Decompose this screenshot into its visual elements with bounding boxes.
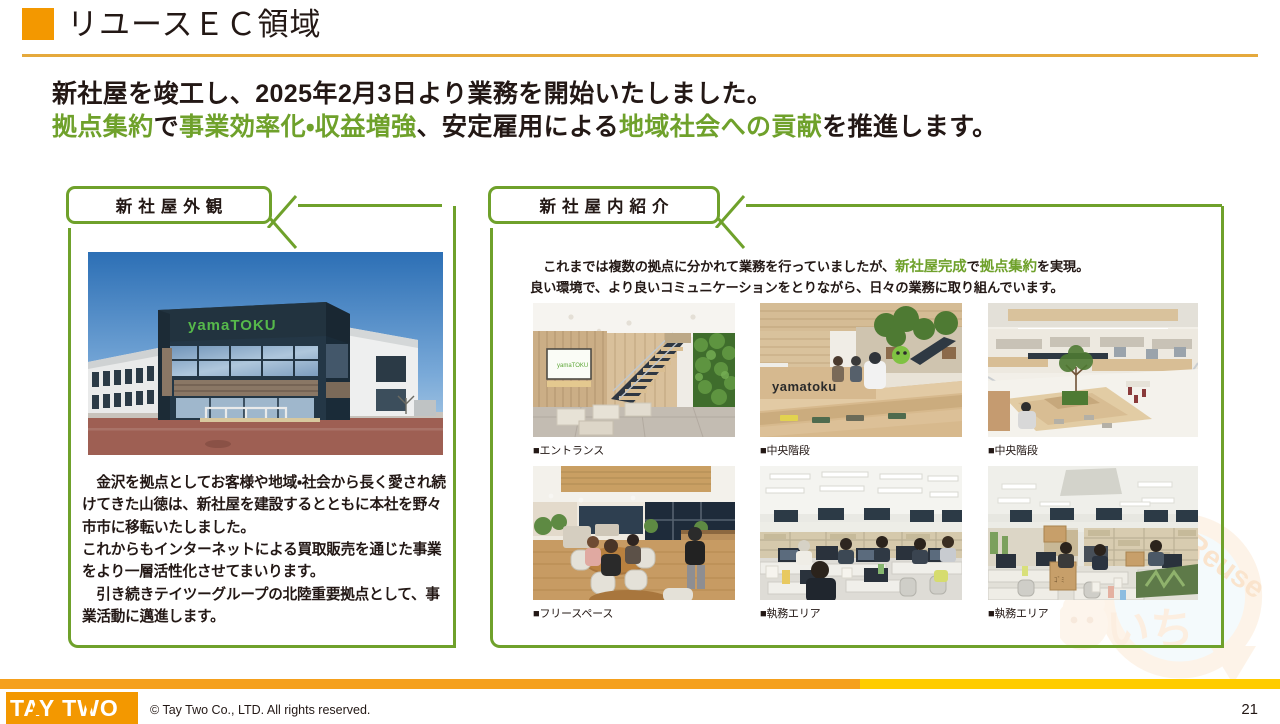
- photo-building-exterior: yamaTOKU: [88, 252, 443, 455]
- lead-text-3: を推進します。: [822, 113, 997, 141]
- intro-highlight-2: 拠点集約: [980, 259, 1037, 275]
- badge-spike-bottom-right: [714, 214, 748, 260]
- panel-exterior-badge: 新社屋外観: [66, 186, 272, 224]
- photo-entrance: yamaTOKU: [533, 303, 735, 437]
- tay-two-logo-mark: TAY TWO: [9, 695, 135, 721]
- svg-text:yamatoku: yamatoku: [772, 379, 837, 394]
- panel-exterior-head: 新社屋外観: [66, 186, 456, 226]
- photo-caption-central-stair-1: ■中央階段: [760, 442, 962, 458]
- intro-highlight-1: 新社屋完成: [895, 259, 966, 275]
- lead-paragraph: 新社屋を竣工し、2025年2月3日より業務を開始いたしました。 拠点集約で事業効…: [52, 78, 1252, 144]
- badge-spike-bottom-left: [266, 214, 300, 260]
- photo-free-space: [533, 466, 735, 600]
- svg-text:TAY TWO: TAY TWO: [10, 695, 119, 721]
- photo-cell-central-stair-2: ■中央階段: [988, 303, 1198, 458]
- panel-exterior: 新社屋外観: [66, 186, 456, 226]
- panel-interior-badge: 新社屋内紹介: [488, 186, 720, 224]
- interior-intro-line2: 良い環境で、より良いコミュニケーションをとりながら、日々の業務に取り組んでいます…: [530, 278, 1190, 298]
- photo-cell-central-stair-1: yamatoku ■中央階段: [760, 303, 962, 458]
- photo-central-stair-2: [988, 303, 1198, 437]
- svg-text:yamaTOKU: yamaTOKU: [557, 363, 588, 369]
- page-title-text: リユースＥＣ領域: [67, 9, 321, 40]
- photo-caption-entrance: ■エントランス: [533, 442, 735, 458]
- lead-text-2: 、安定雇用による: [417, 113, 619, 141]
- photo-caption-free-space: ■フリースペース: [533, 605, 735, 621]
- lead-highlight-1: 拠点集約: [52, 113, 154, 141]
- photo-central-stair-1: yamatoku: [760, 303, 962, 437]
- left-body-p2: これからもインターネットによる買取販売を通じた事業をより一層活性化させてまいりま…: [82, 539, 452, 584]
- lead-text-1: で: [154, 113, 179, 141]
- svg-text:ｺﾞﾐ: ｺﾞﾐ: [1054, 576, 1065, 584]
- photo-cell-entrance: yamaTOKU: [533, 303, 735, 458]
- title-divider: [22, 54, 1258, 57]
- panel-interior-head: 新社屋内紹介: [488, 186, 1224, 226]
- interior-intro-line1: これまでは複数の拠点に分かれて業務を行っていましたが、新社屋完成で拠点集約を実現…: [530, 256, 1190, 278]
- lead-highlight-2: 事業効率化・収益増強: [179, 113, 417, 141]
- photo-caption-office-1: ■執務エリア: [760, 605, 962, 621]
- panel-exterior-rule: [298, 204, 442, 207]
- intro-text-b: で: [967, 259, 980, 274]
- left-body-p3: 引き続きテイツーグループの北陸重要拠点として、事業活動に邁進します。: [82, 584, 452, 629]
- photo-office-1: [760, 466, 962, 600]
- slide-root: Reuse いち リユースＥＣ領域 新社屋を竣工し、2025年2月3日より業務を…: [0, 0, 1280, 720]
- building-sign-text: yamaTOKU: [188, 317, 277, 334]
- page-title: リユースＥＣ領域: [22, 8, 321, 40]
- photo-cell-office-1: ■執務エリア: [760, 466, 962, 621]
- panel-interior: 新社屋内紹介: [488, 186, 1224, 226]
- panel-interior-rule: [746, 204, 1222, 207]
- photo-office-2: ｺﾞﾐ: [988, 466, 1198, 600]
- lead-line-2: 拠点集約で事業効率化・収益増強、安定雇用による地域社会への貢献を推進します。: [52, 111, 1252, 144]
- intro-text-c: を実現。: [1037, 259, 1089, 274]
- footer-bar-orange: [0, 679, 860, 689]
- photo-cell-office-2: ｺﾞﾐ ■執務エリア: [988, 466, 1198, 621]
- left-body-p1: 金沢を拠点としてお客様や地域・社会から長く愛され続けてきた山徳は、新社屋を建設す…: [82, 472, 452, 539]
- footer-bar-yellow: [860, 679, 1280, 689]
- slide-footer: TAY TWO © Tay Two Co., LTD. All rights r…: [0, 680, 1280, 720]
- page-number: 21: [1241, 701, 1258, 718]
- copyright-text: © Tay Two Co., LTD. All rights reserved.: [150, 703, 370, 717]
- left-panel-body: 金沢を拠点としてお客様や地域・社会から長く愛され続けてきた山徳は、新社屋を建設す…: [82, 472, 452, 628]
- lead-highlight-3: 地域社会への貢献: [619, 113, 822, 141]
- interior-intro: これまでは複数の拠点に分かれて業務を行っていましたが、新社屋完成で拠点集約を実現…: [530, 256, 1190, 299]
- lead-line-1: 新社屋を竣工し、2025年2月3日より業務を開始いたしました。: [52, 78, 1252, 111]
- intro-text-a: これまでは複数の拠点に分かれて業務を行っていましたが、: [530, 259, 895, 274]
- photo-caption-office-2: ■執務エリア: [988, 605, 1198, 621]
- photo-cell-free-space: ■フリースペース: [533, 466, 735, 621]
- orange-square-icon: [22, 8, 54, 40]
- company-logo: TAY TWO: [6, 692, 138, 724]
- photo-caption-central-stair-2: ■中央階段: [988, 442, 1198, 458]
- photo-building-exterior-art: yamaTOKU: [88, 252, 443, 455]
